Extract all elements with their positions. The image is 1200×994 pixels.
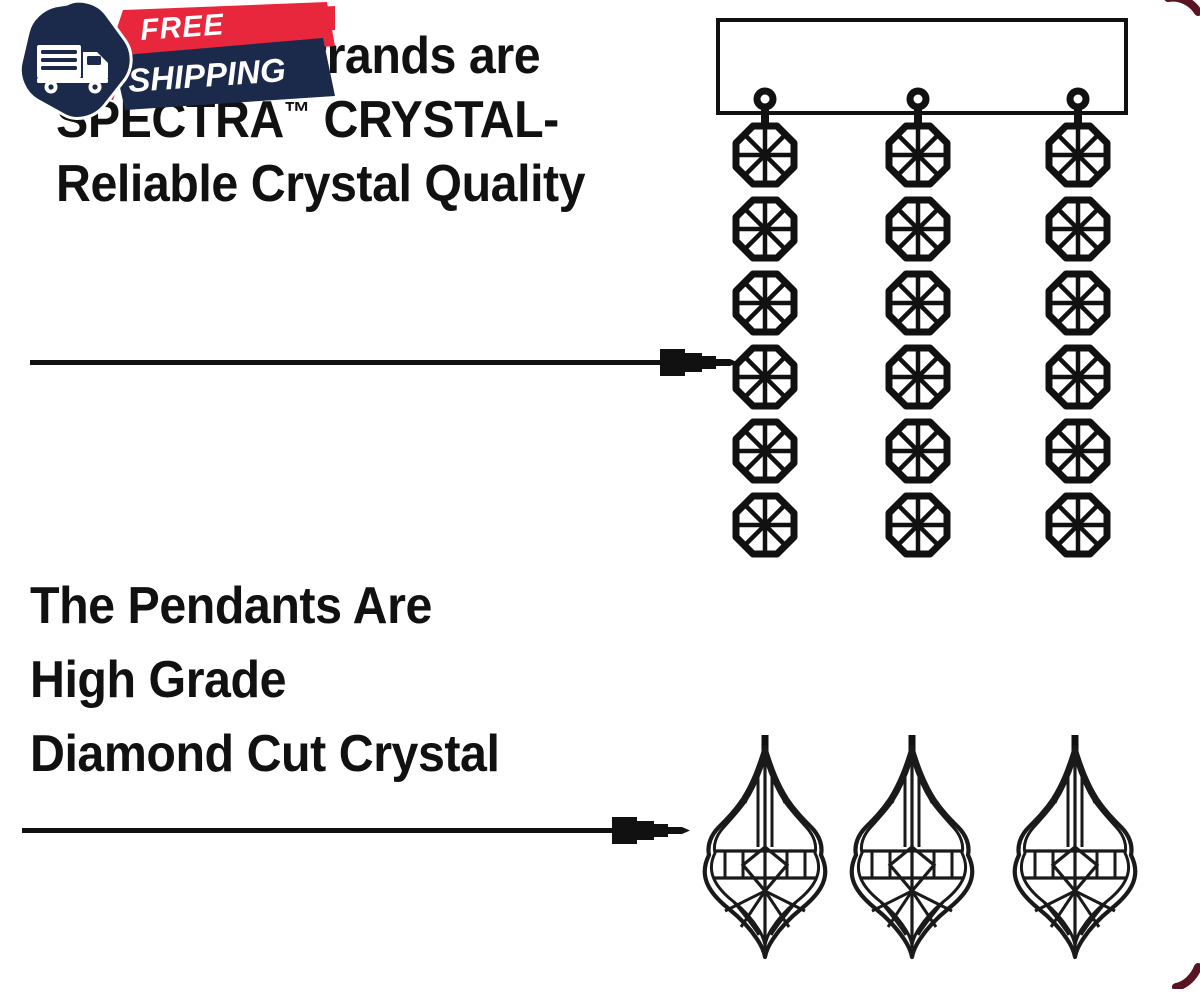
chandelier-frame-box [718, 20, 1126, 113]
bottom-callout-line-3: Diamond Cut Crystal [30, 728, 499, 780]
bottom-callout-line-2: High Grade [30, 654, 499, 706]
corner-watermark-top-right [1160, 0, 1200, 41]
arrow-pointing-to-crystal-pendants [22, 806, 712, 856]
crystal-strand [736, 91, 794, 554]
bottom-callout-line-1: The Pendants Are [30, 580, 499, 632]
crystal-strands-illustration [690, 0, 1140, 580]
crystal-strand [889, 91, 947, 554]
top-callout-line-3: Reliable Crystal Quality [30, 158, 585, 210]
crystal-strand [1049, 91, 1107, 554]
free-shipping-badge: FREE SHIPPING [5, 0, 335, 120]
crystal-pendant [1015, 735, 1135, 957]
bottom-callout-text: The Pendants Are High Grade Diamond Cut … [30, 580, 499, 802]
arrow-pointing-to-crystal-strands [30, 338, 750, 388]
corner-watermark-bottom-right [1160, 949, 1200, 994]
arrow-head [612, 817, 690, 844]
crystal-pendants-illustration [680, 715, 1150, 985]
diagram-canvas: l Strands are SPECTRA™ CRYSTAL- Reliable… [0, 0, 1200, 988]
crystal-pendant [852, 735, 972, 957]
badge-free-label: FREE [139, 8, 225, 47]
top-callout-line-2-suffix: CRYSTAL- [310, 91, 558, 149]
crystal-pendant [705, 735, 825, 957]
